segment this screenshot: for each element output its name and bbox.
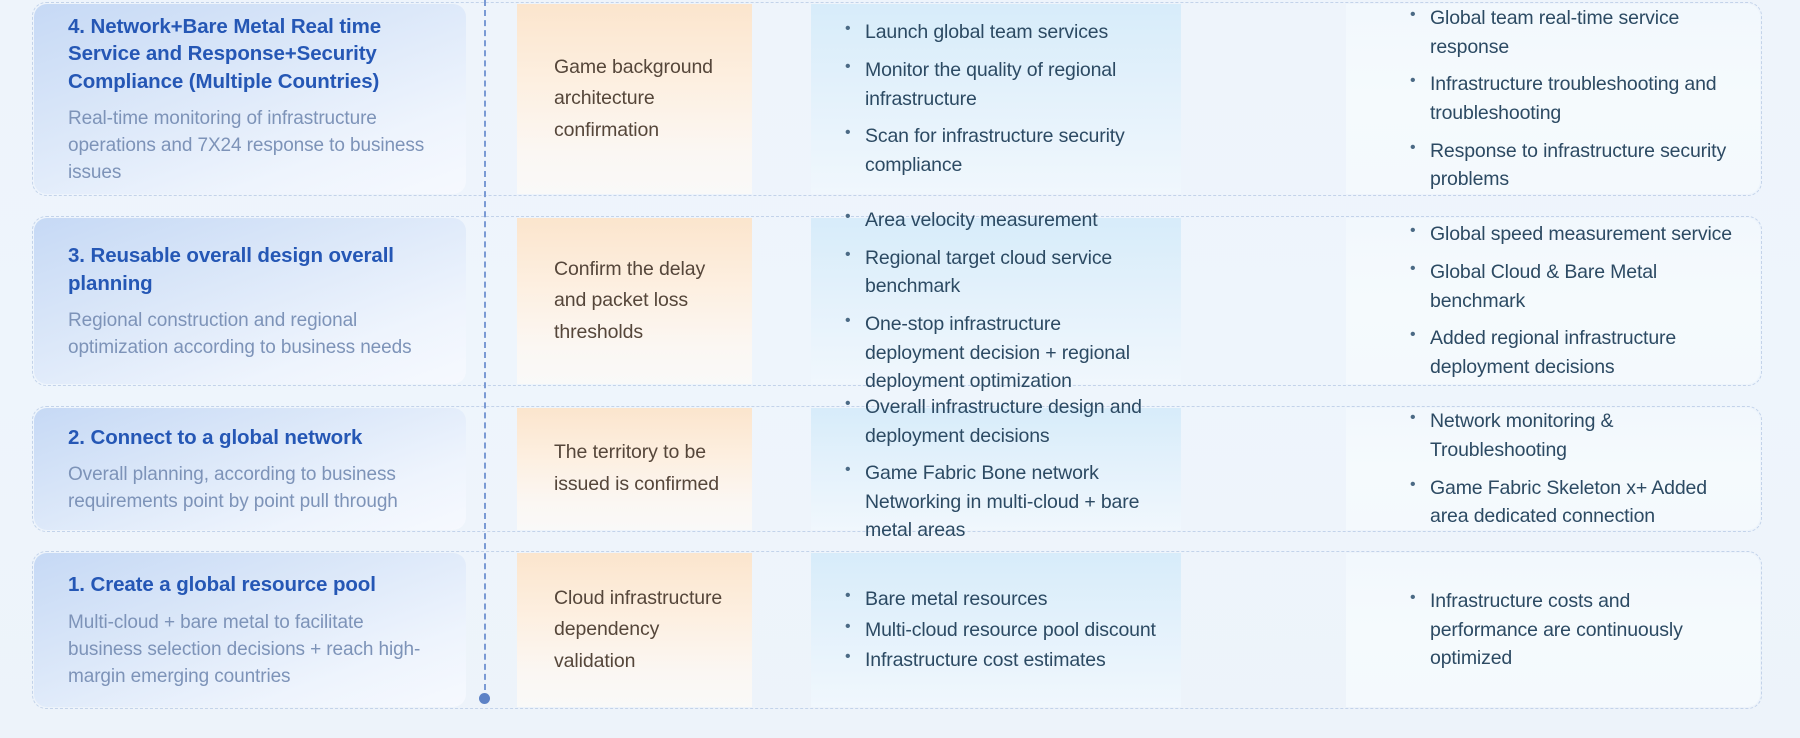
list-item: Response to infrastructure security prob… <box>1408 137 1736 194</box>
stage-subtitle-2: Overall planning, according to business … <box>68 462 432 516</box>
roadmap-row-3: 3. Reusable overall design overall plann… <box>32 216 1762 386</box>
stage-card-1[interactable]: 1. Create a global resource pool Multi-c… <box>34 553 466 707</box>
list-item: Global team real-time service response <box>1408 4 1736 61</box>
service-list-4: Launch global team services Monitor the … <box>843 18 1165 179</box>
stage-title-3: 3. Reusable overall design overall plann… <box>68 242 432 297</box>
stage-card-3[interactable]: 3. Reusable overall design overall plann… <box>34 218 466 384</box>
roadmap-row-2: 2. Connect to a global network Overall p… <box>32 406 1762 532</box>
value-card-1[interactable]: Infrastructure costs and performance are… <box>1346 553 1760 707</box>
confirm-card-3[interactable]: Confirm the delay and packet loss thresh… <box>517 218 752 384</box>
confirm-text-1: Cloud infrastructure dependency validati… <box>554 583 726 678</box>
value-list-4: Global team real-time service response I… <box>1408 4 1736 194</box>
list-item: Infrastructure cost estimates <box>843 646 1165 675</box>
list-item: Multi-cloud resource pool discount <box>843 616 1165 645</box>
confirm-card-1[interactable]: Cloud infrastructure dependency validati… <box>517 553 752 707</box>
list-item: Added regional infrastructure deployment… <box>1408 324 1736 381</box>
list-item: Game Fabric Bone network Networking in m… <box>843 459 1165 545</box>
value-card-2[interactable]: Network monitoring & Troubleshooting Gam… <box>1346 408 1760 530</box>
roadmap-row-4: 4. Network+Bare Metal Real time Service … <box>32 2 1762 196</box>
list-item: Overall infrastructure design and deploy… <box>843 393 1165 450</box>
confirm-text-2: The territory to be issued is confirmed <box>554 437 726 500</box>
stage-title-1: 1. Create a global resource pool <box>68 571 432 598</box>
roadmap-row-1: 1. Create a global resource pool Multi-c… <box>32 551 1762 709</box>
stage-subtitle-4: Real-time monitoring of infrastructure o… <box>68 106 432 187</box>
list-item: One-stop infrastructure deployment decis… <box>843 310 1165 396</box>
list-item: Global speed measurement service <box>1408 220 1736 249</box>
service-list-3: Area velocity measurement Regional targe… <box>843 206 1165 396</box>
value-card-4[interactable]: Global team real-time service response I… <box>1346 4 1760 194</box>
list-item: Infrastructure costs and performance are… <box>1408 587 1736 673</box>
value-list-2: Network monitoring & Troubleshooting Gam… <box>1408 407 1736 531</box>
service-list-1: Bare metal resources Multi-cloud resourc… <box>843 585 1165 675</box>
timeline-dashed-line <box>484 0 486 700</box>
service-card-4[interactable]: Launch global team services Monitor the … <box>811 4 1181 194</box>
stage-card-2[interactable]: 2. Connect to a global network Overall p… <box>34 408 466 530</box>
list-item: Bare metal resources <box>843 585 1165 614</box>
service-list-2: Overall infrastructure design and deploy… <box>843 393 1165 545</box>
list-item: Game Fabric Skeleton x+ Added area dedic… <box>1408 474 1736 531</box>
confirm-card-4[interactable]: Game background architecture confirmatio… <box>517 4 752 194</box>
value-card-3[interactable]: Global speed measurement service Global … <box>1346 218 1760 384</box>
list-item: Launch global team services <box>843 18 1165 47</box>
confirm-text-3: Confirm the delay and packet loss thresh… <box>554 254 726 349</box>
service-card-3[interactable]: Area velocity measurement Regional targe… <box>811 218 1181 384</box>
list-item: Infrastructure troubleshooting and troub… <box>1408 70 1736 127</box>
service-card-1[interactable]: Bare metal resources Multi-cloud resourc… <box>811 553 1181 707</box>
list-item: Network monitoring & Troubleshooting <box>1408 407 1736 464</box>
stage-subtitle-3: Regional construction and regional optim… <box>68 308 432 362</box>
value-list-1: Infrastructure costs and performance are… <box>1408 587 1736 673</box>
confirm-card-2[interactable]: The territory to be issued is confirmed <box>517 408 752 530</box>
stage-title-4: 4. Network+Bare Metal Real time Service … <box>68 13 432 95</box>
list-item: Area velocity measurement <box>843 206 1165 235</box>
list-item: Monitor the quality of regional infrastr… <box>843 56 1165 113</box>
list-item: Regional target cloud service benchmark <box>843 244 1165 301</box>
list-item: Global Cloud & Bare Metal benchmark <box>1408 258 1736 315</box>
service-card-2[interactable]: Overall infrastructure design and deploy… <box>811 408 1181 530</box>
value-list-3: Global speed measurement service Global … <box>1408 220 1736 381</box>
stage-card-4[interactable]: 4. Network+Bare Metal Real time Service … <box>34 4 466 194</box>
stage-title-2: 2. Connect to a global network <box>68 424 432 451</box>
stage-subtitle-1: Multi-cloud + bare metal to facilitate b… <box>68 610 432 691</box>
list-item: Scan for infrastructure security complia… <box>843 122 1165 179</box>
diagram-canvas: 4. Network+Bare Metal Real time Service … <box>0 0 1800 738</box>
confirm-text-4: Game background architecture confirmatio… <box>554 52 726 147</box>
timeline-start-dot <box>479 693 490 704</box>
